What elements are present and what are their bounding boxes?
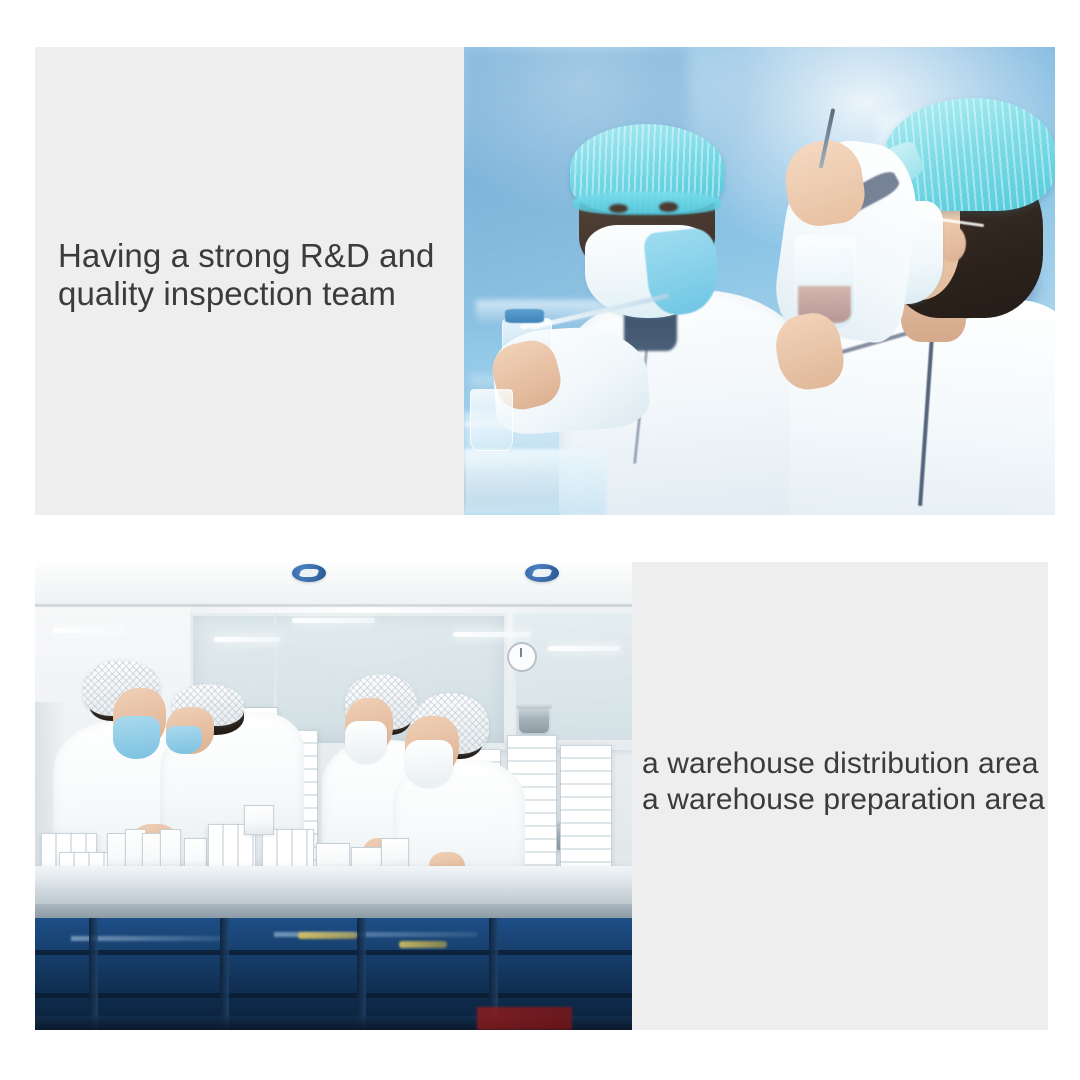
steel-work-table-edge bbox=[35, 904, 632, 918]
worker-2-face-mask bbox=[166, 726, 202, 754]
technician-left-eye-left bbox=[609, 204, 628, 213]
technician-left-hairnet-band bbox=[573, 192, 721, 215]
ceiling-light-3 bbox=[292, 618, 376, 623]
warehouse-scene-illustration bbox=[35, 562, 632, 1030]
ceiling-light-5 bbox=[548, 646, 620, 651]
stainless-container-2 bbox=[519, 707, 549, 733]
top-section: Having a strong R&D and quality inspecti… bbox=[35, 47, 1055, 515]
table-cross-bar-2 bbox=[35, 993, 632, 998]
glass-beaker-front bbox=[470, 389, 513, 452]
carton-stack-right-3 bbox=[560, 745, 612, 883]
warehouse-ceiling-edge bbox=[35, 604, 632, 607]
floor-tape-marker-2 bbox=[399, 941, 447, 948]
table-cross-bar-1 bbox=[35, 950, 632, 955]
bottom-caption-panel: a warehouse distribution area a warehous… bbox=[632, 562, 1048, 1030]
worker-4-face-mask bbox=[405, 740, 453, 787]
ceiling-sign-icon-right bbox=[525, 564, 559, 582]
warehouse-packing-area-photo bbox=[35, 562, 632, 1030]
table-leg-2 bbox=[220, 918, 229, 1030]
table-leg-3 bbox=[357, 918, 366, 1030]
technician-left-eye-right bbox=[659, 202, 678, 211]
slide-canvas: Having a strong R&D and quality inspecti… bbox=[0, 0, 1080, 1080]
worker-3-face-mask bbox=[345, 721, 387, 763]
ceiling-light-4 bbox=[453, 632, 531, 637]
table-leg-1 bbox=[89, 918, 98, 1030]
floor-red-mat bbox=[477, 1007, 573, 1030]
bottom-section: a warehouse distribution area a warehous… bbox=[35, 562, 1048, 1030]
ceiling-light-1 bbox=[53, 628, 125, 633]
wall-clock-icon bbox=[507, 642, 537, 672]
top-caption-panel: Having a strong R&D and quality inspecti… bbox=[35, 47, 464, 515]
floor-tape-marker-1 bbox=[298, 932, 358, 939]
worker-1-face-mask bbox=[113, 716, 161, 758]
ceiling-light-2 bbox=[214, 637, 280, 642]
reagent-bottle-cap bbox=[505, 309, 543, 323]
rd-quality-inspection-lab-photo bbox=[464, 47, 1055, 515]
steel-work-table-top bbox=[35, 866, 632, 908]
top-caption-text: Having a strong R&D and quality inspecti… bbox=[58, 237, 458, 313]
lab-scene-illustration bbox=[464, 47, 1055, 515]
bottom-caption-text: a warehouse distribution area a warehous… bbox=[642, 746, 1062, 818]
carton-flat-3 bbox=[244, 805, 274, 835]
lab-bench-tray bbox=[464, 449, 606, 515]
